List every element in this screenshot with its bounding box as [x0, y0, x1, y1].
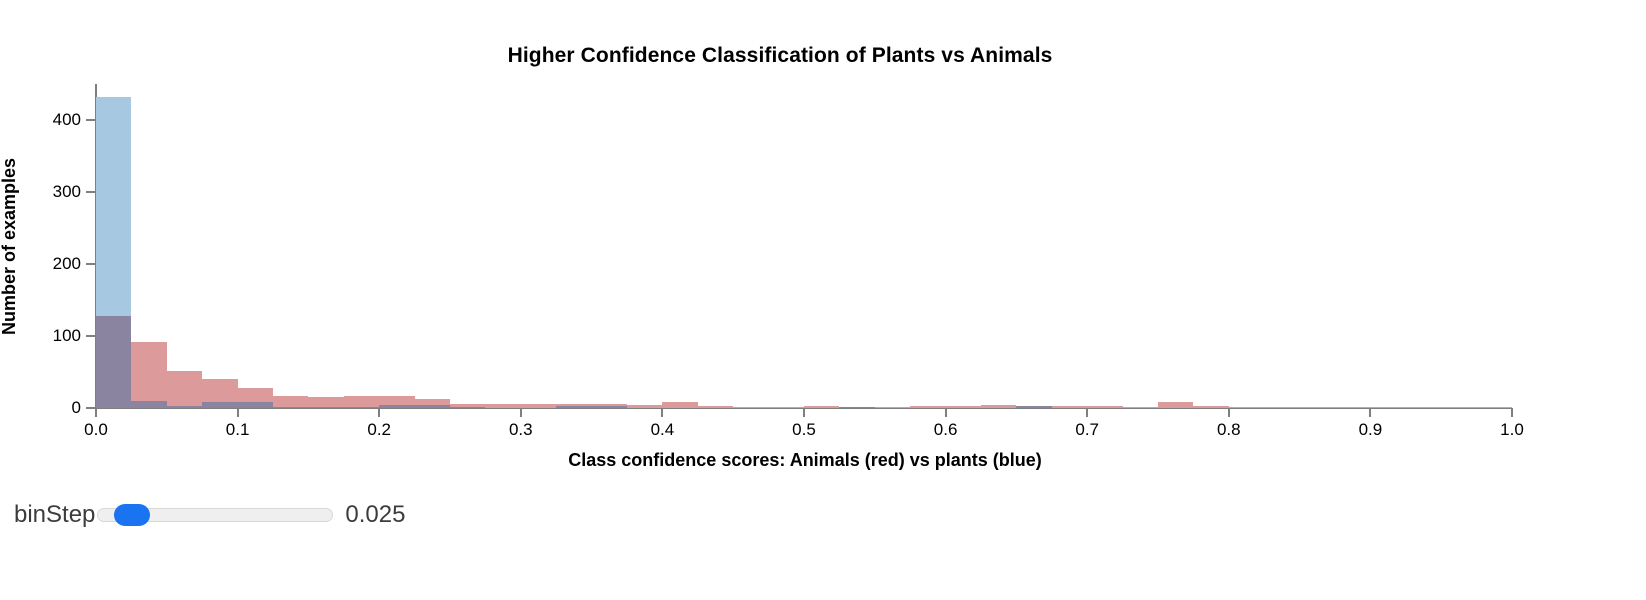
x-tick-mark: [1228, 408, 1230, 417]
y-tick-mark: [86, 263, 95, 265]
x-tick-label: 0.1: [226, 420, 250, 440]
bar-animals: [946, 406, 981, 408]
x-tick-label: 0.6: [934, 420, 958, 440]
bar-animals: [1406, 407, 1441, 409]
bar-animals: [1300, 407, 1335, 409]
bar-animals: [131, 342, 166, 408]
x-tick-mark: [1086, 408, 1088, 417]
bar-animals: [1335, 407, 1370, 409]
x-tick-mark: [1369, 408, 1371, 417]
bin-step-label: binStep: [14, 503, 95, 527]
x-tick-mark: [945, 408, 947, 417]
bin-step-slider[interactable]: [97, 504, 333, 526]
x-tick-mark: [803, 408, 805, 417]
bar-overlap: [556, 406, 591, 408]
x-tick-label: 0.9: [1359, 420, 1383, 440]
plot-area: [96, 84, 1512, 408]
bar-animals: [1193, 406, 1228, 408]
bar-animals: [804, 406, 839, 408]
bar-animals: [1264, 407, 1299, 409]
bar-animals: [981, 405, 1016, 408]
x-tick-mark: [237, 408, 239, 417]
bar-overlap: [131, 401, 166, 408]
y-tick-mark: [86, 335, 95, 337]
y-tick-label: 200: [53, 254, 81, 274]
bar-animals: [662, 402, 697, 408]
bar-animals: [698, 406, 733, 408]
y-tick-mark: [86, 191, 95, 193]
bar-animals: [1370, 407, 1405, 409]
bar-animals: [1123, 407, 1158, 409]
x-tick-mark: [378, 408, 380, 417]
x-tick-label: 0.0: [84, 420, 108, 440]
x-tick-mark: [520, 408, 522, 417]
x-axis-label: Class confidence scores: Animals (red) v…: [0, 450, 1610, 471]
bar-overlap: [96, 316, 131, 408]
bar-animals: [521, 404, 556, 408]
bar-animals: [769, 407, 804, 409]
bar-overlap: [167, 406, 202, 408]
x-tick-mark: [1511, 408, 1513, 417]
x-tick-label: 0.5: [792, 420, 816, 440]
bar-animals: [1158, 402, 1193, 408]
bar-animals: [1229, 407, 1264, 409]
x-tick-mark: [95, 408, 97, 417]
bar-overlap: [202, 402, 237, 408]
chart-figure: Higher Confidence Classification of Plan…: [0, 0, 1646, 485]
bar-overlap: [415, 405, 450, 408]
bar-animals: [1052, 406, 1087, 408]
bar-overlap: [592, 406, 627, 408]
y-tick-label: 400: [53, 110, 81, 130]
histogram-app: Higher Confidence Classification of Plan…: [0, 0, 1646, 600]
bar-animals: [627, 405, 662, 408]
x-tick-label: 1.0: [1500, 420, 1524, 440]
bar-overlap: [450, 407, 485, 409]
x-tick-mark: [661, 408, 663, 417]
bar-animals: [167, 371, 202, 408]
x-tick-label: 0.3: [509, 420, 533, 440]
bar-overlap: [238, 402, 273, 408]
y-tick-label: 100: [53, 326, 81, 346]
bar-animals: [875, 407, 910, 409]
x-tick-label: 0.4: [651, 420, 675, 440]
bar-overlap: [839, 407, 874, 409]
bar-animals: [485, 404, 520, 408]
x-tick-label: 0.2: [367, 420, 391, 440]
bar-overlap: [379, 405, 414, 408]
bar-overlap: [273, 407, 308, 409]
x-tick-label: 0.8: [1217, 420, 1241, 440]
bin-step-value: 0.025: [345, 503, 405, 527]
bar-animals: [1477, 407, 1512, 409]
bar-animals: [1441, 407, 1476, 409]
chart-title: Higher Confidence Classification of Plan…: [0, 44, 1560, 68]
y-axis-ticks: 0100200300400: [0, 84, 95, 408]
bar-overlap: [344, 407, 379, 409]
x-axis-ticks: 0.00.10.20.30.40.50.60.70.80.91.0: [0, 408, 1646, 448]
bar-animals: [910, 406, 945, 408]
slider-handle[interactable]: [114, 504, 150, 526]
x-tick-label: 0.7: [1075, 420, 1099, 440]
y-tick-mark: [86, 119, 95, 121]
bar-overlap: [1016, 406, 1051, 408]
bar-overlap: [308, 407, 343, 409]
bar-animals: [733, 407, 768, 409]
bin-step-control: binStep 0.025: [14, 492, 405, 538]
bar-animals: [1087, 406, 1122, 408]
y-tick-label: 300: [53, 182, 81, 202]
